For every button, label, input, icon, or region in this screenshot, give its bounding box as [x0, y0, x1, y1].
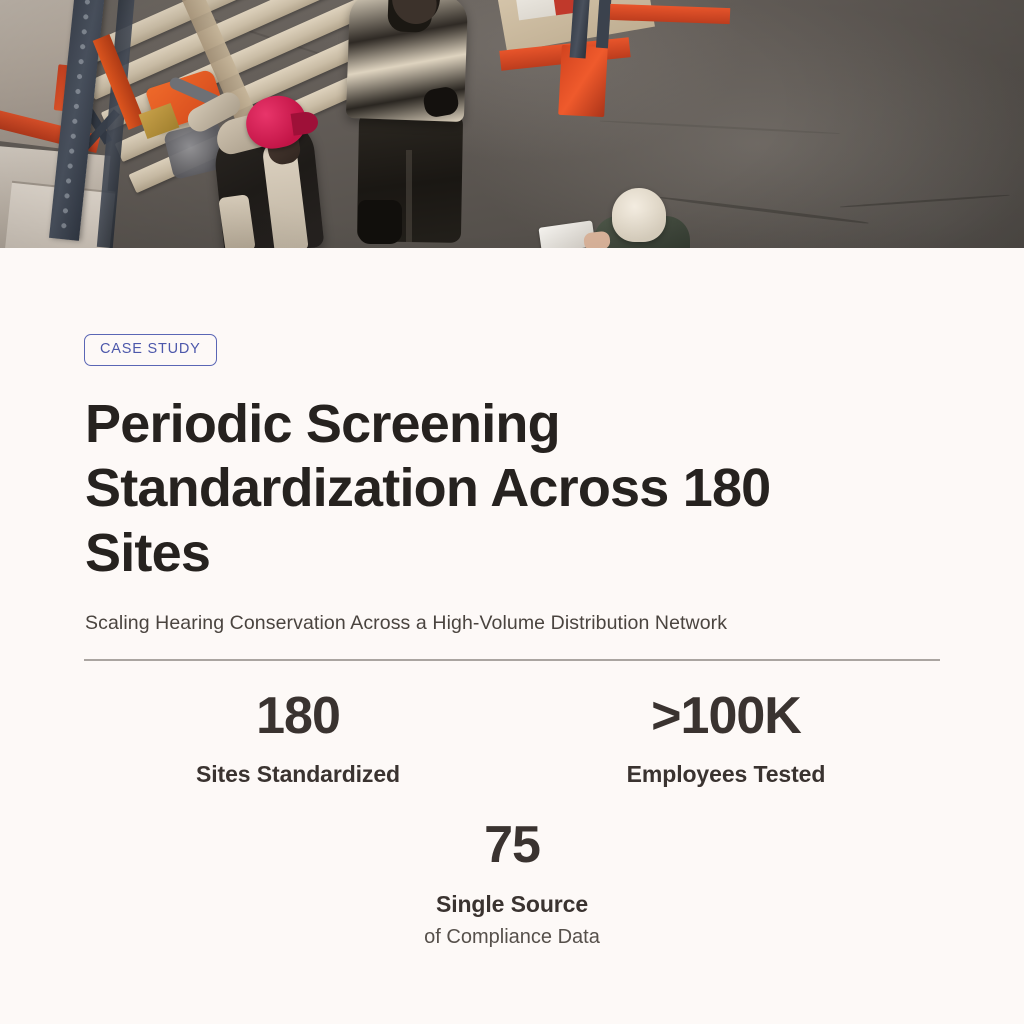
stat-item: >100K Employees Tested	[512, 689, 940, 819]
page-subtitle: Scaling Hearing Conservation Across a Hi…	[85, 612, 940, 635]
worker-leg-split	[406, 150, 412, 242]
case-study-page: CASE STUDY Periodic Screening Standardiz…	[0, 0, 1024, 1024]
stat-label: Employees Tested	[522, 761, 930, 788]
case-study-content: CASE STUDY Periodic Screening Standardiz…	[0, 248, 1024, 979]
beanie-icon	[612, 188, 666, 242]
worker-hand	[583, 231, 611, 248]
stat-sublabel: of Compliance Data	[94, 926, 930, 949]
stat-label: Sites Standardized	[94, 761, 502, 788]
stat-value: >100K	[522, 689, 930, 744]
hero-image	[0, 0, 1024, 248]
stats-grid: 180 Sites Standardized >100K Employees T…	[84, 689, 940, 979]
stat-value: 180	[94, 689, 502, 744]
page-title: Periodic Screening Standardization Acros…	[85, 392, 845, 586]
stat-item: 180 Sites Standardized	[84, 689, 512, 819]
worker-boot	[358, 200, 402, 244]
stat-value: 75	[94, 818, 930, 873]
stat-label: Single Source	[94, 891, 930, 918]
section-divider	[84, 659, 940, 661]
stat-item: 75 Single Source of Compliance Data	[84, 818, 940, 979]
case-study-badge: CASE STUDY	[84, 334, 217, 366]
